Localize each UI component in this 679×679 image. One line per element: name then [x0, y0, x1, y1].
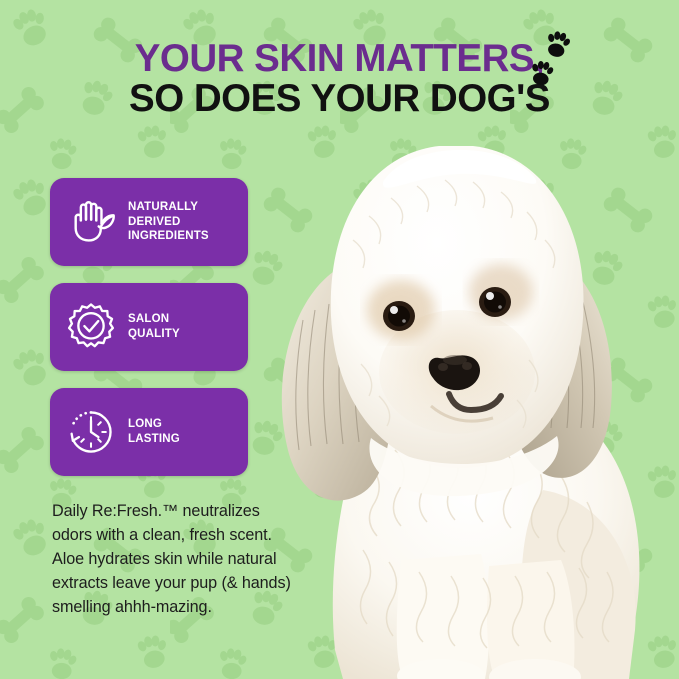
hand-leaf-icon — [60, 191, 122, 253]
badge-long-lasting[interactable]: LONG LASTING — [50, 388, 248, 476]
badge-label: NATURALLY DERIVED INGREDIENTS — [128, 200, 209, 244]
clock-rotate-icon — [60, 401, 122, 463]
badge-salon-quality[interactable]: SALON QUALITY — [50, 283, 248, 371]
seal-check-icon — [60, 296, 122, 358]
body-paragraph: Daily Re:Fresh.™ neutralizes odors with … — [52, 500, 304, 620]
badge-label: SALON QUALITY — [128, 312, 180, 341]
badge-label: LONG LASTING — [128, 417, 180, 446]
product-infographic: YOUR SKIN MATTERS, SO DOES YOUR DOG'S — [0, 0, 679, 679]
badge-naturally-derived-ingredients[interactable]: NATURALLY DERIVED INGREDIENTS — [50, 178, 248, 266]
dog-photo — [243, 120, 679, 679]
feature-badge-list: NATURALLY DERIVED INGREDIENTS SALON QUAL… — [50, 178, 248, 493]
paw-print-decoration-icon — [524, 28, 594, 90]
